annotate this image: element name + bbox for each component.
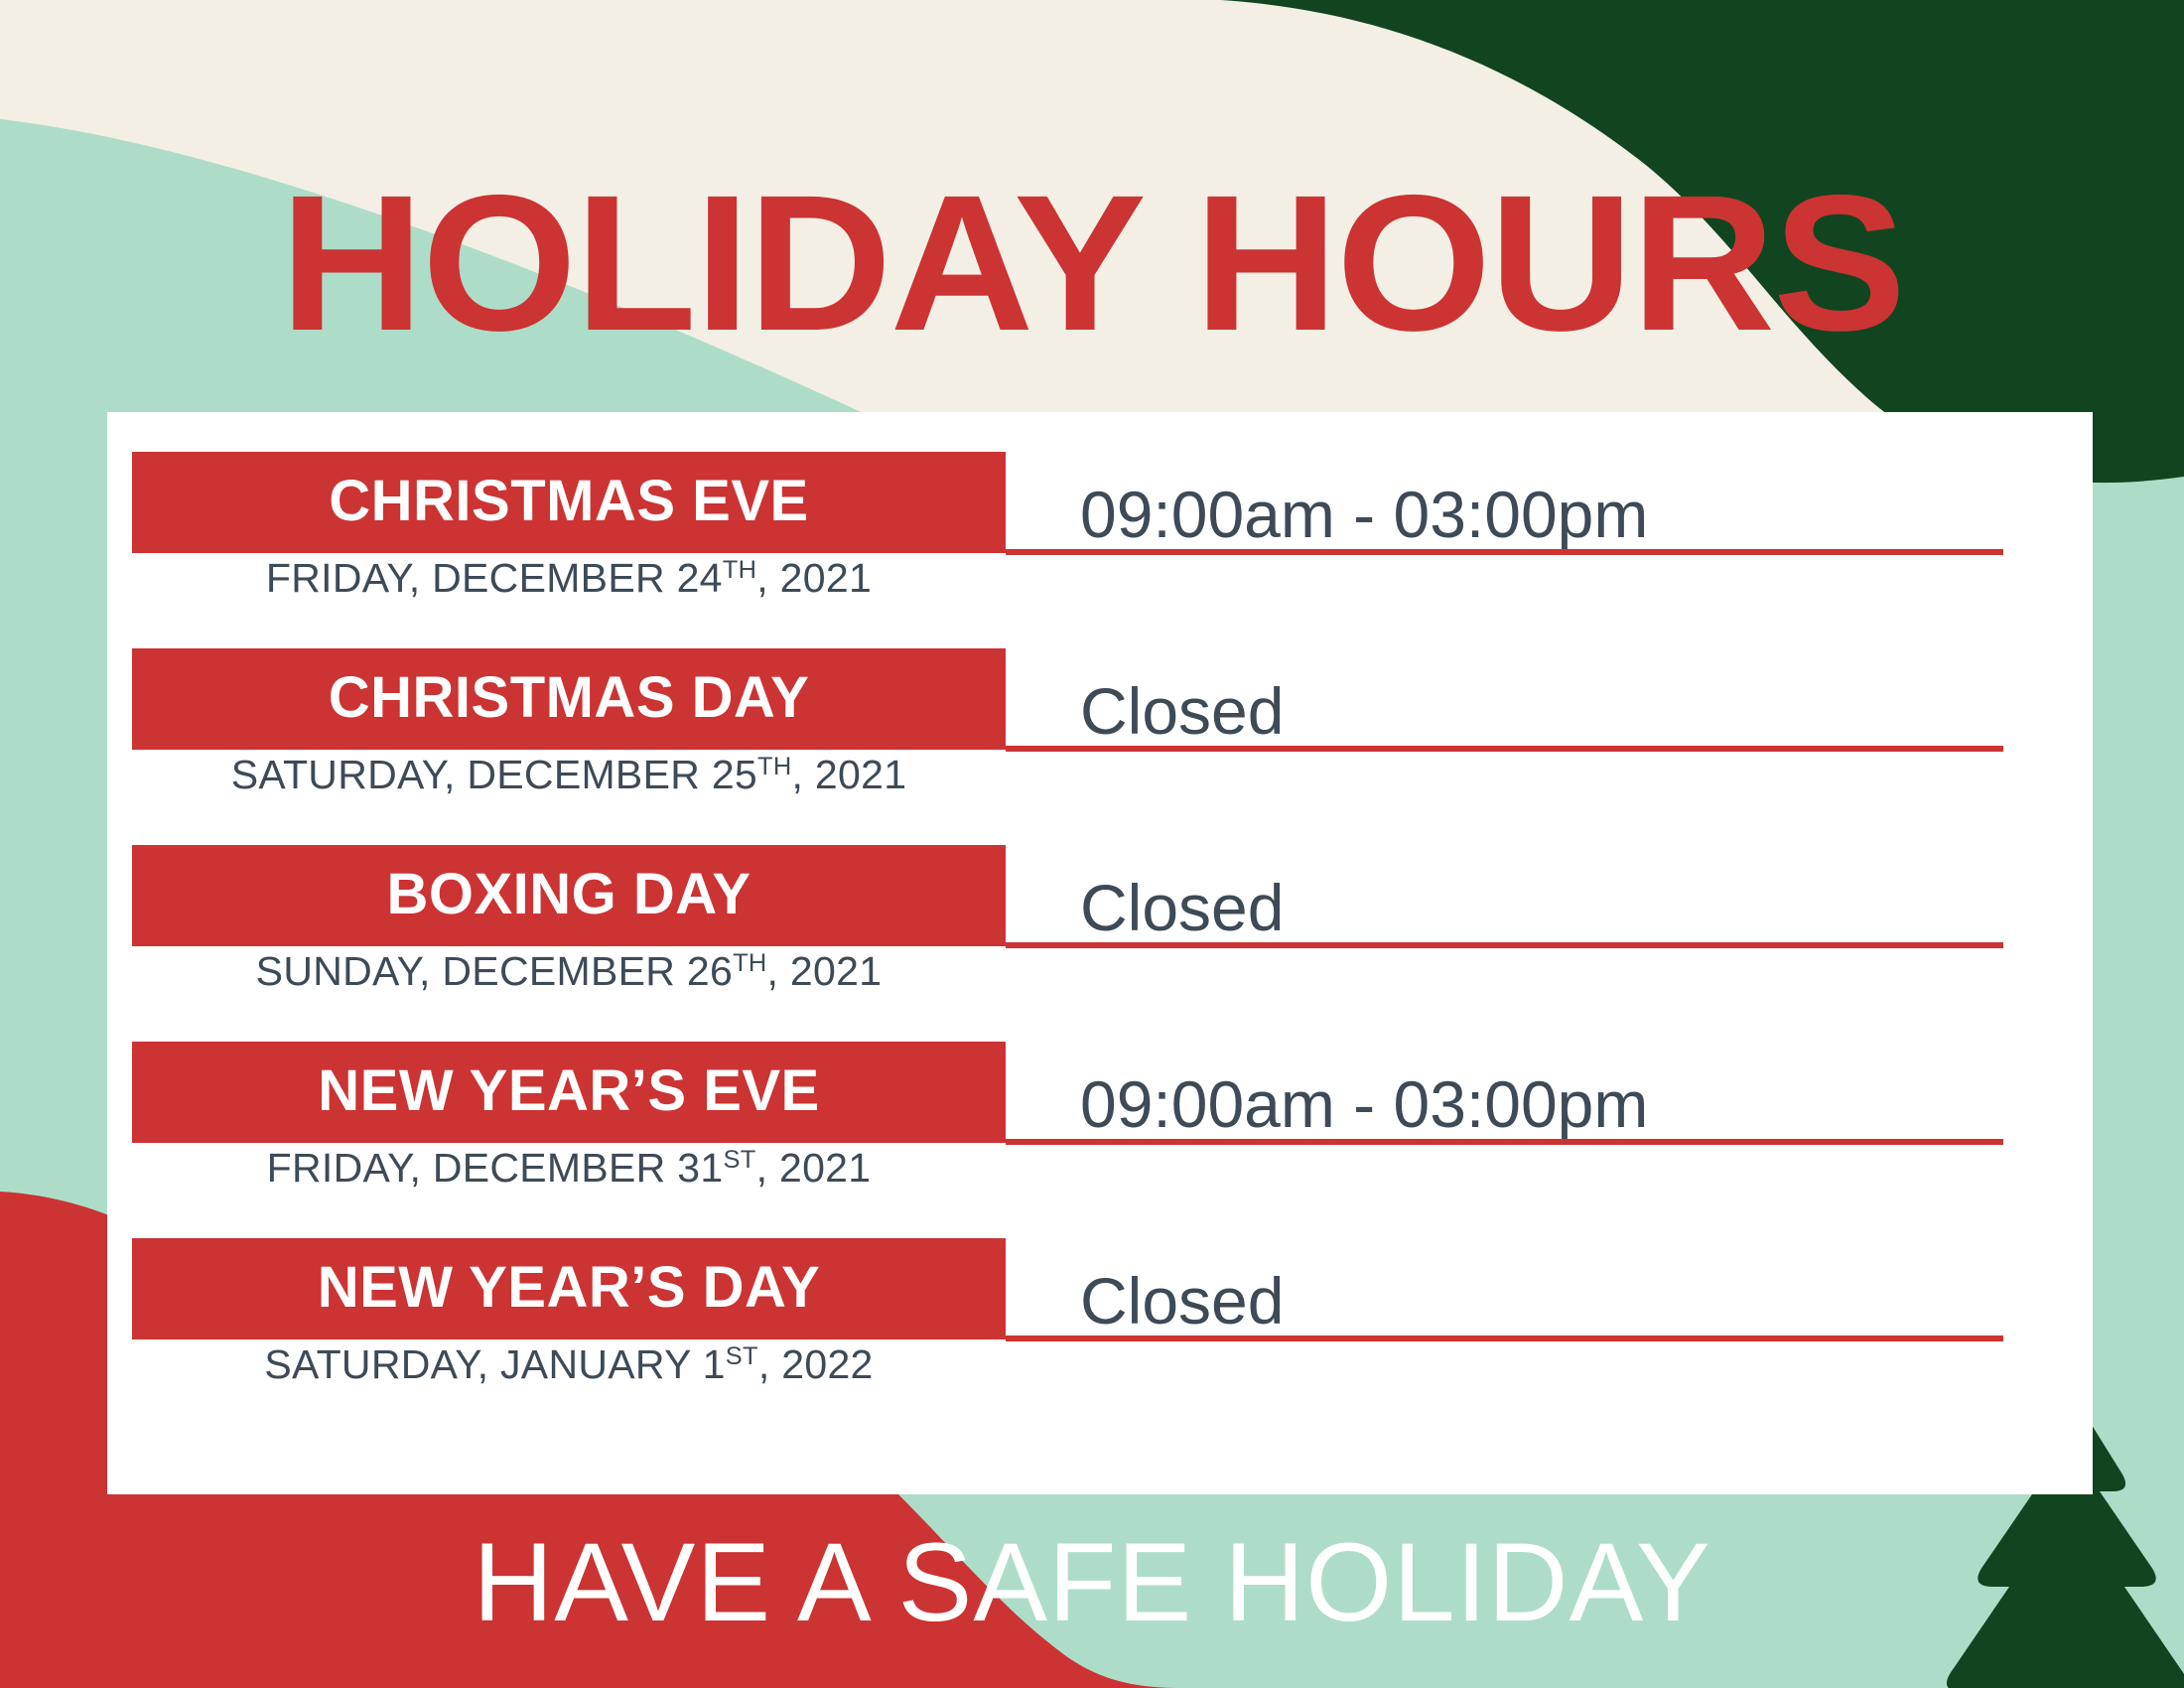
holiday-name-label: NEW YEAR’S EVE <box>318 1057 820 1124</box>
holiday-name-label: CHRISTMAS EVE <box>329 468 808 534</box>
holiday-hours-label: 09:00am - 03:00pm <box>1080 1071 1648 1137</box>
holiday-date-label: SUNDAY, DECEMBER 26TH, 2021 <box>132 948 1006 995</box>
holiday-hours-cell: Closed <box>1006 648 2003 752</box>
row-underline <box>1006 942 2003 948</box>
holiday-name-label: CHRISTMAS DAY <box>329 664 810 731</box>
row-underline <box>1006 1336 2003 1341</box>
holiday-date-label: SATURDAY, JANUARY 1ST, 2022 <box>132 1341 1006 1388</box>
holiday-name-label: BOXING DAY <box>386 861 751 927</box>
holiday-hours-label: Closed <box>1080 678 1284 744</box>
date-ordinal-suffix: TH <box>723 556 756 584</box>
schedule-row: CHRISTMAS DAY SATURDAY, DECEMBER 25TH, 2… <box>107 648 2093 847</box>
holiday-name-label: NEW YEAR’S DAY <box>318 1254 821 1321</box>
schedule-panel: CHRISTMAS EVE FRIDAY, DECEMBER 24TH, 202… <box>107 412 2093 1494</box>
holiday-name-band: NEW YEAR’S EVE <box>132 1042 1006 1143</box>
holiday-date-label: SATURDAY, DECEMBER 25TH, 2021 <box>132 752 1006 798</box>
holiday-hours-cell: Closed <box>1006 845 2003 948</box>
holiday-date-label: FRIDAY, DECEMBER 24TH, 2021 <box>132 555 1006 602</box>
holiday-name-band: BOXING DAY <box>132 845 1006 946</box>
holiday-hours-label: Closed <box>1080 875 1284 940</box>
holiday-name-band: NEW YEAR’S DAY <box>132 1238 1006 1339</box>
row-underline <box>1006 1139 2003 1145</box>
holiday-hours-cell: 09:00am - 03:00pm <box>1006 452 2003 555</box>
schedule-row: NEW YEAR’S EVE FRIDAY, DECEMBER 31ST, 20… <box>107 1042 2093 1240</box>
holiday-name-band: CHRISTMAS EVE <box>132 452 1006 553</box>
holiday-hours-label: 09:00am - 03:00pm <box>1080 482 1648 547</box>
row-underline <box>1006 746 2003 752</box>
row-underline <box>1006 549 2003 555</box>
holiday-hours-poster: HOLIDAY HOURS CHRISTMAS EVE FRIDAY, DECE… <box>0 0 2184 1688</box>
schedule-row: CHRISTMAS EVE FRIDAY, DECEMBER 24TH, 202… <box>107 452 2093 650</box>
footer-message: HAVE A SAFE HOLIDAY <box>0 1527 2184 1638</box>
date-ordinal-suffix: ST <box>724 1146 756 1174</box>
holiday-hours-label: Closed <box>1080 1268 1284 1334</box>
holiday-date-label: FRIDAY, DECEMBER 31ST, 2021 <box>132 1145 1006 1192</box>
date-ordinal-suffix: ST <box>726 1342 758 1370</box>
schedule-row: BOXING DAY SUNDAY, DECEMBER 26TH, 2021 C… <box>107 845 2093 1044</box>
date-ordinal-suffix: TH <box>757 753 791 780</box>
holiday-name-band: CHRISTMAS DAY <box>132 648 1006 750</box>
date-ordinal-suffix: TH <box>733 949 766 977</box>
holiday-hours-cell: Closed <box>1006 1238 2003 1341</box>
page-title: HOLIDAY HOURS <box>0 167 2184 360</box>
holiday-hours-cell: 09:00am - 03:00pm <box>1006 1042 2003 1145</box>
schedule-row: NEW YEAR’S DAY SATURDAY, JANUARY 1ST, 20… <box>107 1238 2093 1437</box>
